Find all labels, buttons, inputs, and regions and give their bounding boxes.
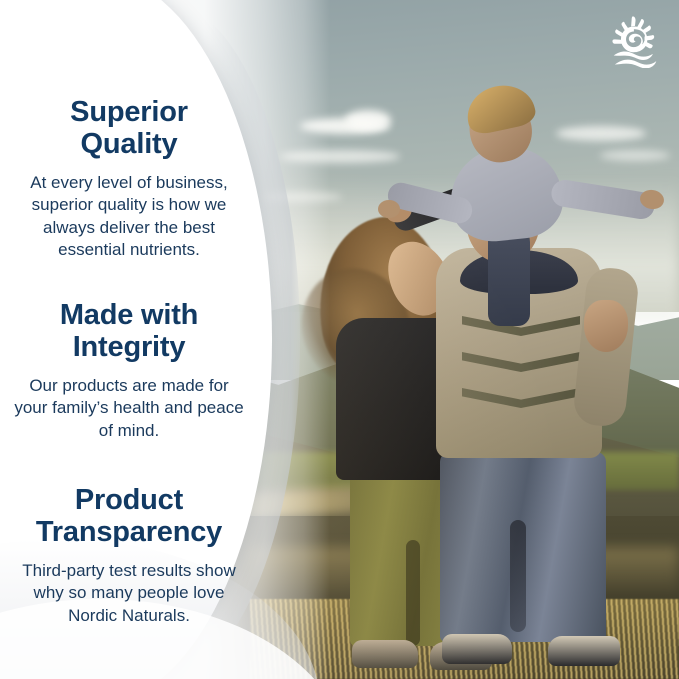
value-block-superior-quality: Superior Quality At every level of busin…: [14, 96, 244, 262]
mother-leg-gap: [406, 540, 420, 646]
heading-made-with-integrity: Made with Integrity: [14, 299, 244, 364]
heading-line-2: Integrity: [73, 331, 186, 363]
value-block-made-with-integrity: Made with Integrity Our products are mad…: [14, 299, 244, 442]
mother-shoe-left: [352, 640, 418, 668]
heading-line-1: Superior: [70, 96, 188, 128]
father-hand: [584, 300, 628, 352]
child-hand-left: [378, 200, 400, 218]
heading-line-2: Quality: [81, 128, 178, 160]
value-prop-column: Superior Quality At every level of busin…: [0, 0, 258, 679]
heading-line-2: Transparency: [36, 516, 222, 548]
body-superior-quality: At every level of business, superior qua…: [14, 172, 244, 262]
marketing-banner: Superior Quality At every level of busin…: [0, 0, 679, 679]
value-block-product-transparency: Product Transparency Third-party test re…: [14, 484, 244, 627]
heading-superior-quality: Superior Quality: [14, 96, 244, 161]
body-made-with-integrity: Our products are made for your family’s …: [14, 375, 244, 442]
heading-line-1: Product: [75, 484, 183, 516]
heading-product-transparency: Product Transparency: [14, 484, 244, 549]
father-shoe-right: [548, 636, 620, 666]
father-shoe-left: [442, 634, 512, 664]
sun-waves-logo-icon: [607, 14, 663, 68]
heading-line-1: Made with: [60, 299, 198, 331]
body-product-transparency: Third-party test results show why so man…: [14, 560, 244, 627]
father-leg-gap: [510, 520, 526, 632]
